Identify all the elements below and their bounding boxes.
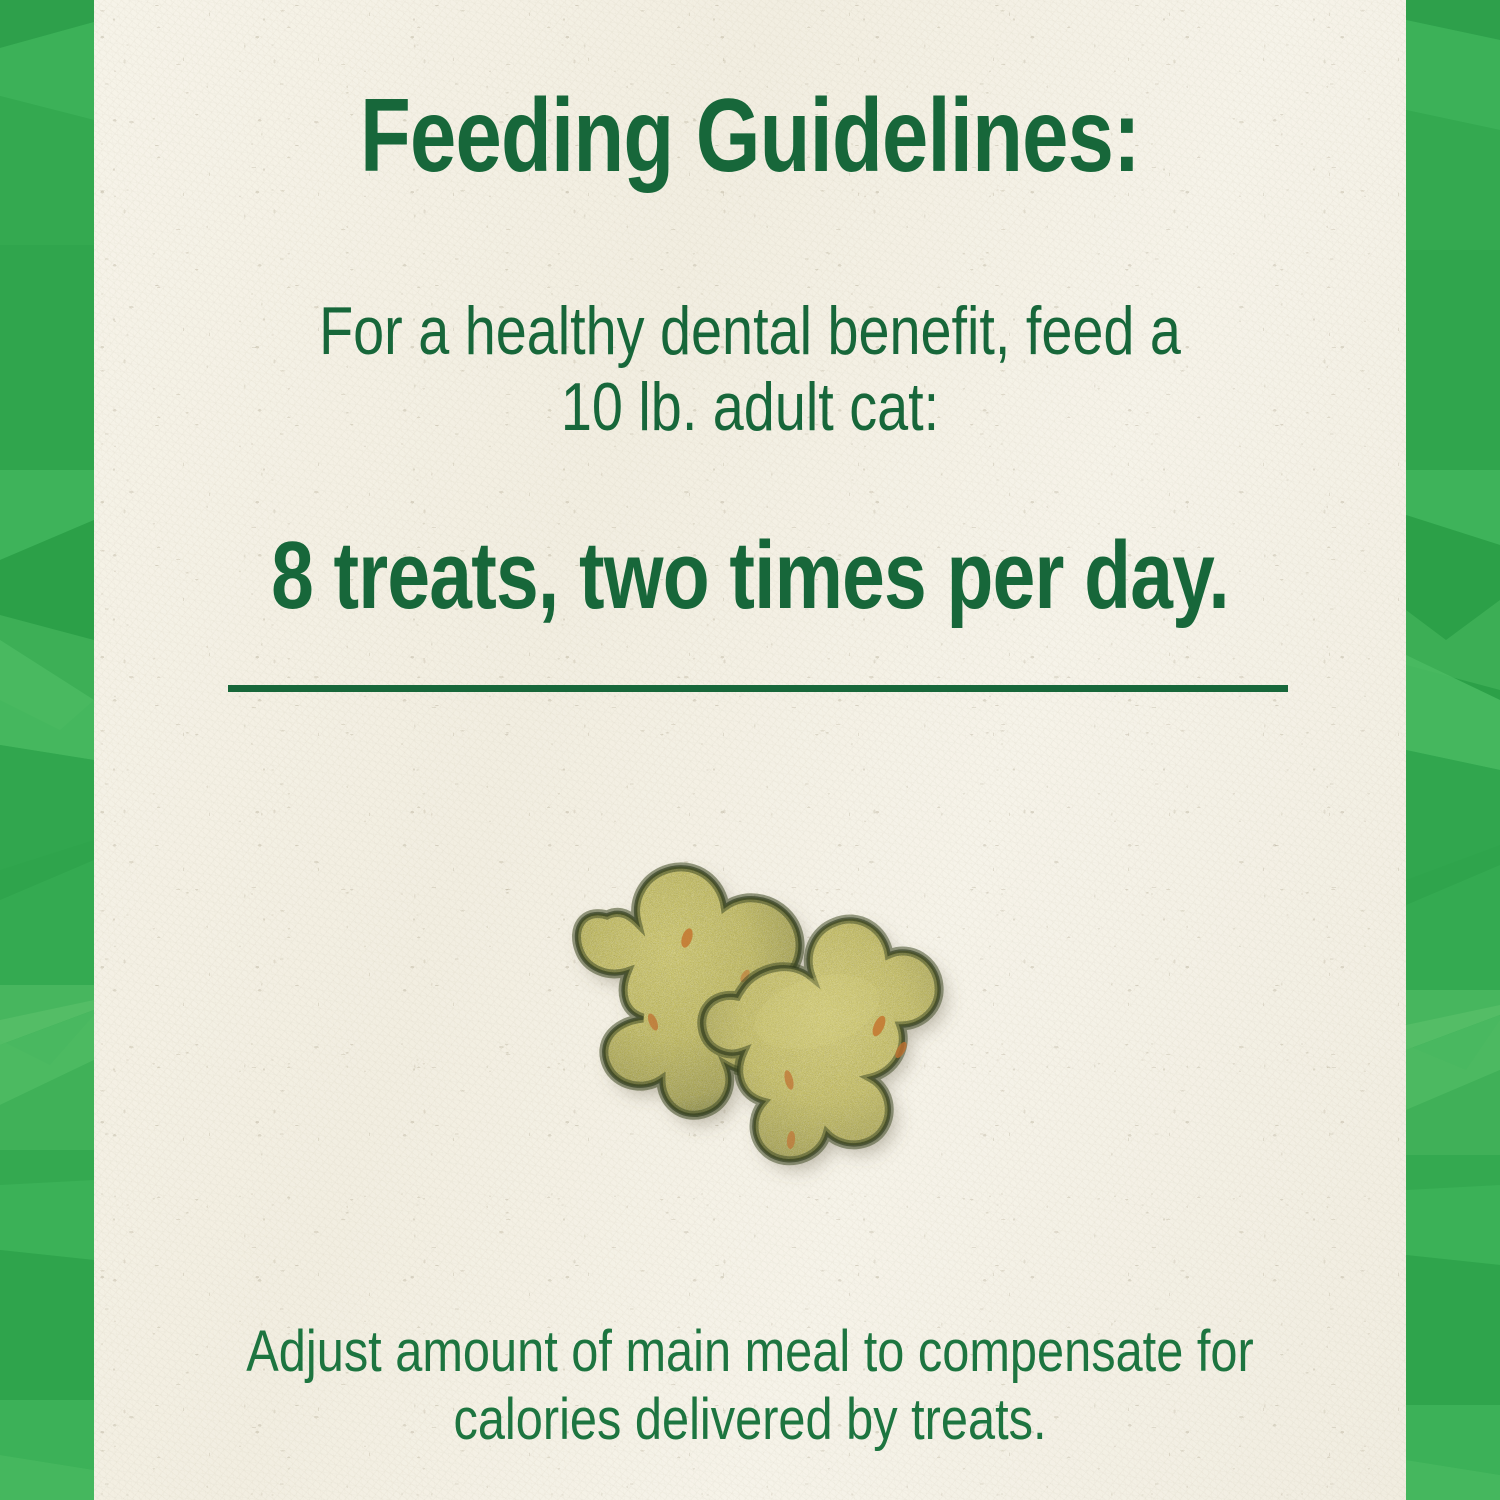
- dosage-highlight-text: 8 treats, two times per day.: [225, 528, 1275, 624]
- feeding-instruction-line-2: 10 lb. adult cat:: [212, 369, 1288, 445]
- feeding-instruction-line-1: For a healthy dental benefit, feed a: [212, 293, 1288, 369]
- panel-content: Feeding Guidelines: For a healthy dental…: [94, 0, 1406, 1500]
- calorie-note-line-1: Adjust amount of main meal to compensate…: [199, 1318, 1301, 1386]
- left-green-border-band: [0, 0, 94, 1500]
- left-band-facets: [0, 0, 94, 1500]
- right-band-facets: [1406, 0, 1500, 1500]
- horizontal-divider-rule: [228, 685, 1288, 692]
- calorie-note-line-2: calories delivered by treats.: [199, 1386, 1301, 1454]
- calorie-adjustment-note: Adjust amount of main meal to compensate…: [199, 1318, 1301, 1454]
- page-title: Feeding Guidelines:: [225, 84, 1275, 188]
- cat-dental-treats-photo: [549, 800, 1019, 1270]
- treats-illustration: [549, 800, 1019, 1270]
- feeding-instruction-text: For a healthy dental benefit, feed a 10 …: [212, 293, 1288, 445]
- right-green-border-band: [1406, 0, 1500, 1500]
- feeding-guidelines-panel: Feeding Guidelines: For a healthy dental…: [0, 0, 1500, 1500]
